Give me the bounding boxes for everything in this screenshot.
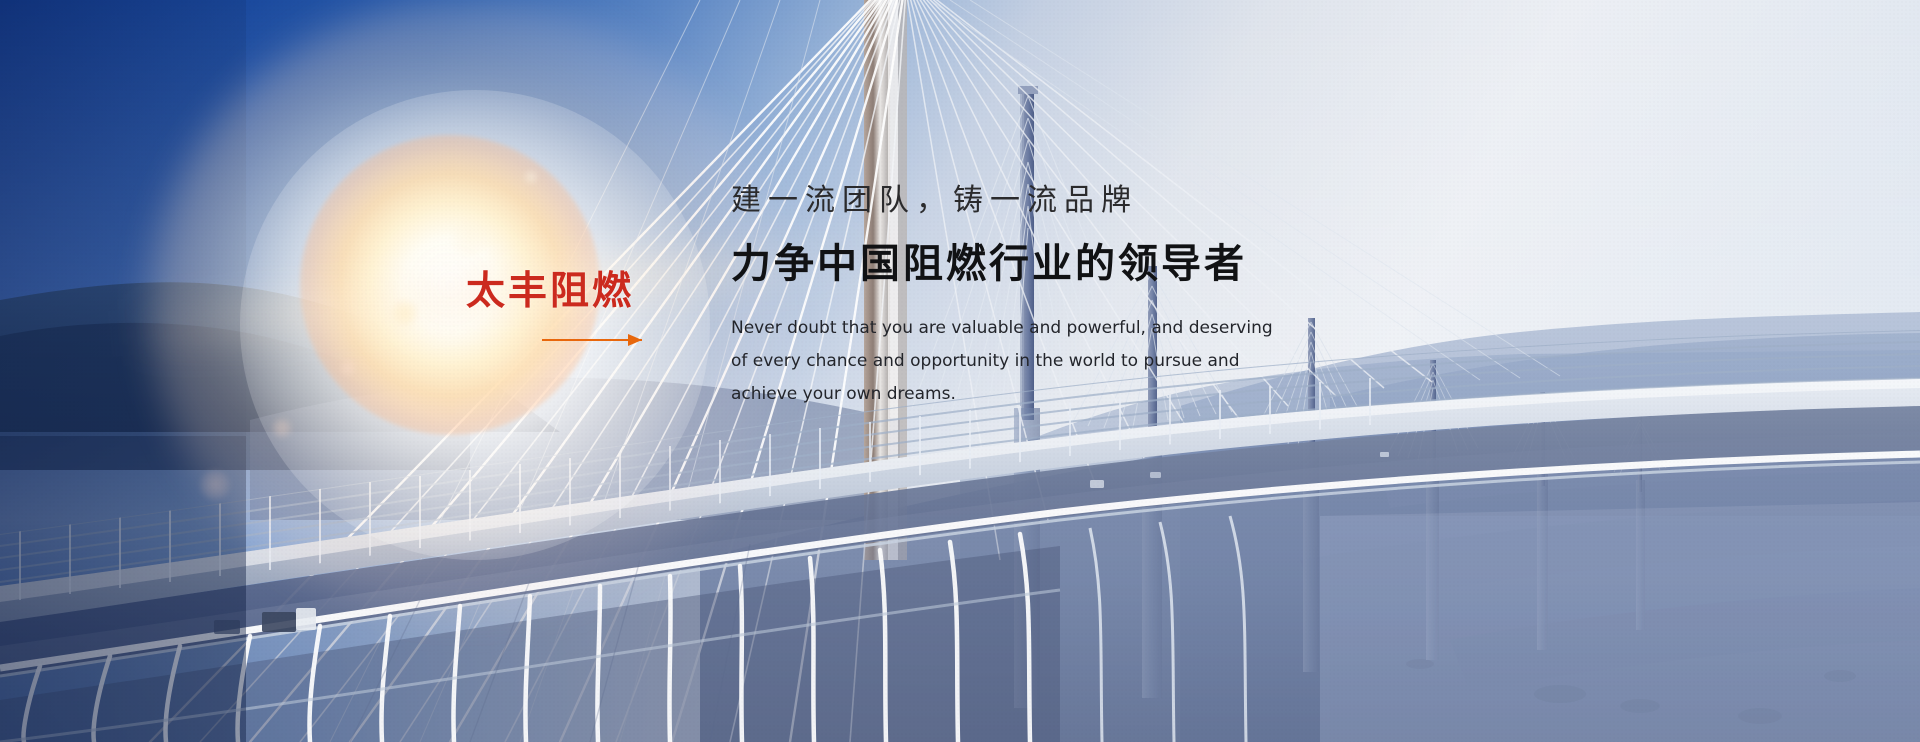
lens-ghost bbox=[272, 418, 292, 438]
hero-subheading: 建一流团队，铸一流品牌 bbox=[731, 186, 1351, 216]
arrow-head bbox=[628, 334, 642, 346]
hero-paragraph-line-3: achieve your own dreams. bbox=[731, 378, 1351, 411]
arrow-shaft bbox=[542, 339, 642, 341]
lens-ghost bbox=[200, 470, 230, 500]
hero-paragraph-line-2: of every chance and opportunity in the w… bbox=[731, 345, 1351, 378]
lens-ghost bbox=[340, 360, 356, 376]
hero-paragraph: Never doubt that you are valuable and po… bbox=[731, 312, 1351, 411]
hero-heading: 力争中国阻燃行业的领导者 bbox=[731, 242, 1351, 286]
arrow-right-icon bbox=[466, 333, 646, 347]
brand-logo[interactable]: 太丰阻燃 bbox=[466, 272, 666, 347]
lens-ghost bbox=[452, 222, 486, 256]
brand-name: 太丰阻燃 bbox=[466, 272, 666, 311]
hero-copy: 建一流团队，铸一流品牌 力争中国阻燃行业的领导者 Never doubt tha… bbox=[731, 186, 1351, 411]
lens-ghost bbox=[392, 300, 418, 326]
lens-ghost bbox=[524, 170, 538, 184]
hero-paragraph-line-1: Never doubt that you are valuable and po… bbox=[731, 312, 1351, 345]
hero-banner: 太丰阻燃 建一流团队，铸一流品牌 力争中国阻燃行业的领导者 Never doub… bbox=[0, 0, 1920, 742]
